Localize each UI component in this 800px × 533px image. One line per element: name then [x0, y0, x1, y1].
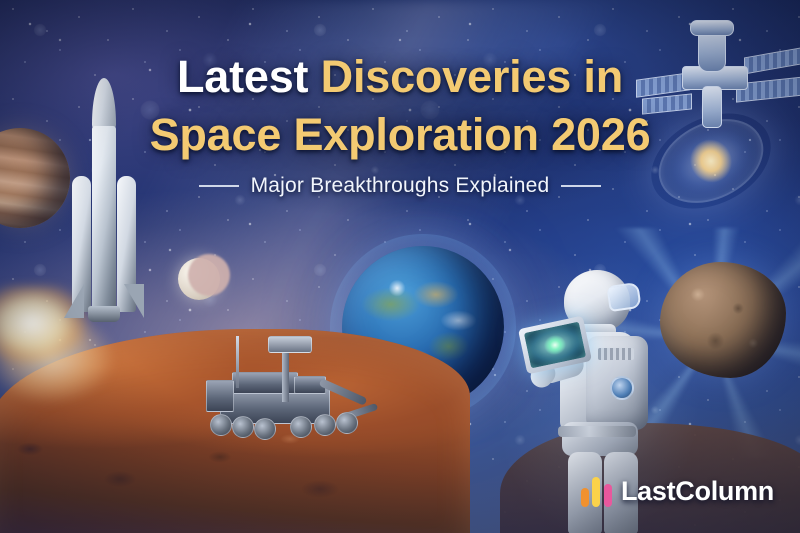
logo-text: LastColumn: [621, 476, 774, 507]
rover-wheel: [336, 412, 358, 434]
subtitle-row: Major Breakthroughs Explained: [28, 174, 772, 198]
tablet-galaxy-screen: [524, 322, 586, 369]
station-observation-deck: [690, 20, 734, 36]
astronaut-backpack-dial: [610, 376, 634, 400]
title-line-1-gold: Discoveries in: [321, 51, 623, 102]
headline-block: Latest Discoveries in Space Exploration …: [0, 48, 800, 198]
rocket-fin-right: [124, 284, 144, 318]
rover-mast: [282, 348, 289, 402]
rover-wheel: [314, 414, 336, 436]
rover-wheel: [290, 416, 312, 438]
rover-antenna: [236, 336, 239, 388]
rover-instrument-box: [206, 380, 234, 412]
subtitle-rule-left: [199, 185, 239, 187]
astronaut-utility-belt: [558, 426, 636, 437]
title-line-1: Latest Discoveries in: [28, 48, 772, 106]
rover-wheel: [254, 418, 276, 440]
rocket-flame: [78, 318, 130, 430]
logo-bar-orange: [581, 488, 589, 507]
mars-rover-icon: [198, 330, 368, 454]
rocket-fin-left: [64, 284, 84, 318]
logo-bars-icon: [581, 477, 612, 507]
astronaut-backpack-vent: [598, 348, 634, 360]
rover-wheel: [210, 414, 232, 436]
rover-camera-head: [268, 336, 312, 353]
subtitle-rule-right: [561, 185, 601, 187]
rover-wheel: [232, 416, 254, 438]
brand-logo[interactable]: LastColumn: [581, 476, 774, 507]
space-exploration-banner: Latest Discoveries in Space Exploration …: [0, 0, 800, 533]
title-line-1-white: Latest: [177, 51, 321, 102]
logo-bar-pink: [604, 484, 612, 507]
title-line-2: Space Exploration 2026: [28, 106, 772, 164]
logo-bar-yellow: [592, 477, 600, 507]
crescent-moon-icon: [178, 258, 220, 300]
subtitle-text: Major Breakthroughs Explained: [251, 174, 550, 198]
